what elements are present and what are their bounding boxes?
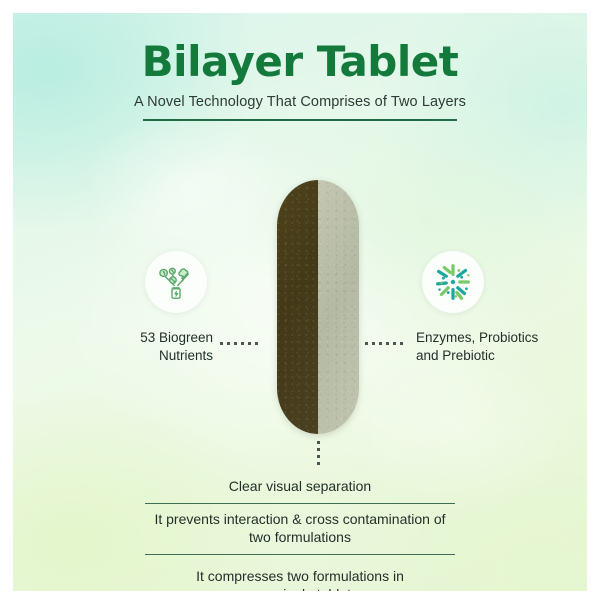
right-callout-line-1: Enzymes, Probiotics xyxy=(416,329,566,347)
page-title: Bilayer Tablet xyxy=(13,39,587,84)
infographic-canvas: Bilayer Tablet A Novel Technology That C… xyxy=(13,13,587,591)
benefit-line-2: two formulations xyxy=(145,528,455,547)
header: Bilayer Tablet A Novel Technology That C… xyxy=(13,39,587,121)
bilayer-tablet-graphic xyxy=(277,180,359,434)
left-callout-badge xyxy=(145,251,207,313)
left-connector-dotted-line xyxy=(220,342,262,345)
right-callout-line-2: and Prebiotic xyxy=(416,347,566,365)
benefit-line-2: one single tablet xyxy=(145,585,455,591)
left-callout-line-2: Nutrients xyxy=(83,347,213,365)
benefits-list: Clear visual separation It prevents inte… xyxy=(145,471,455,591)
benefit-line-1: It compresses two formulations in xyxy=(145,567,455,586)
left-callout-label: 53 Biogreen Nutrients xyxy=(83,329,213,365)
tablet-layer-dark xyxy=(277,180,318,434)
bottom-connector-dotted-line xyxy=(317,441,320,467)
benefit-item: It prevents interaction & cross contamin… xyxy=(145,503,455,554)
right-connector-dotted-line xyxy=(365,342,407,345)
probiotic-bacteria-cluster-icon xyxy=(430,259,476,305)
header-divider xyxy=(143,119,457,121)
right-callout-label: Enzymes, Probiotics and Prebiotic xyxy=(416,329,566,365)
benefit-line-1: It prevents interaction & cross contamin… xyxy=(145,510,455,529)
right-callout-badge xyxy=(422,251,484,313)
page-subtitle: A Novel Technology That Comprises of Two… xyxy=(13,94,587,110)
benefit-line-1: Clear visual separation xyxy=(145,477,455,496)
left-callout-line-1: 53 Biogreen xyxy=(83,329,213,347)
tablet-layer-light xyxy=(318,180,359,434)
benefit-item: Clear visual separation xyxy=(145,471,455,503)
benefit-item: It compresses two formulations in one si… xyxy=(145,554,455,591)
image-frame: Bilayer Tablet A Novel Technology That C… xyxy=(0,0,600,604)
vegetables-funnel-supplement-bottle-icon xyxy=(155,261,197,303)
